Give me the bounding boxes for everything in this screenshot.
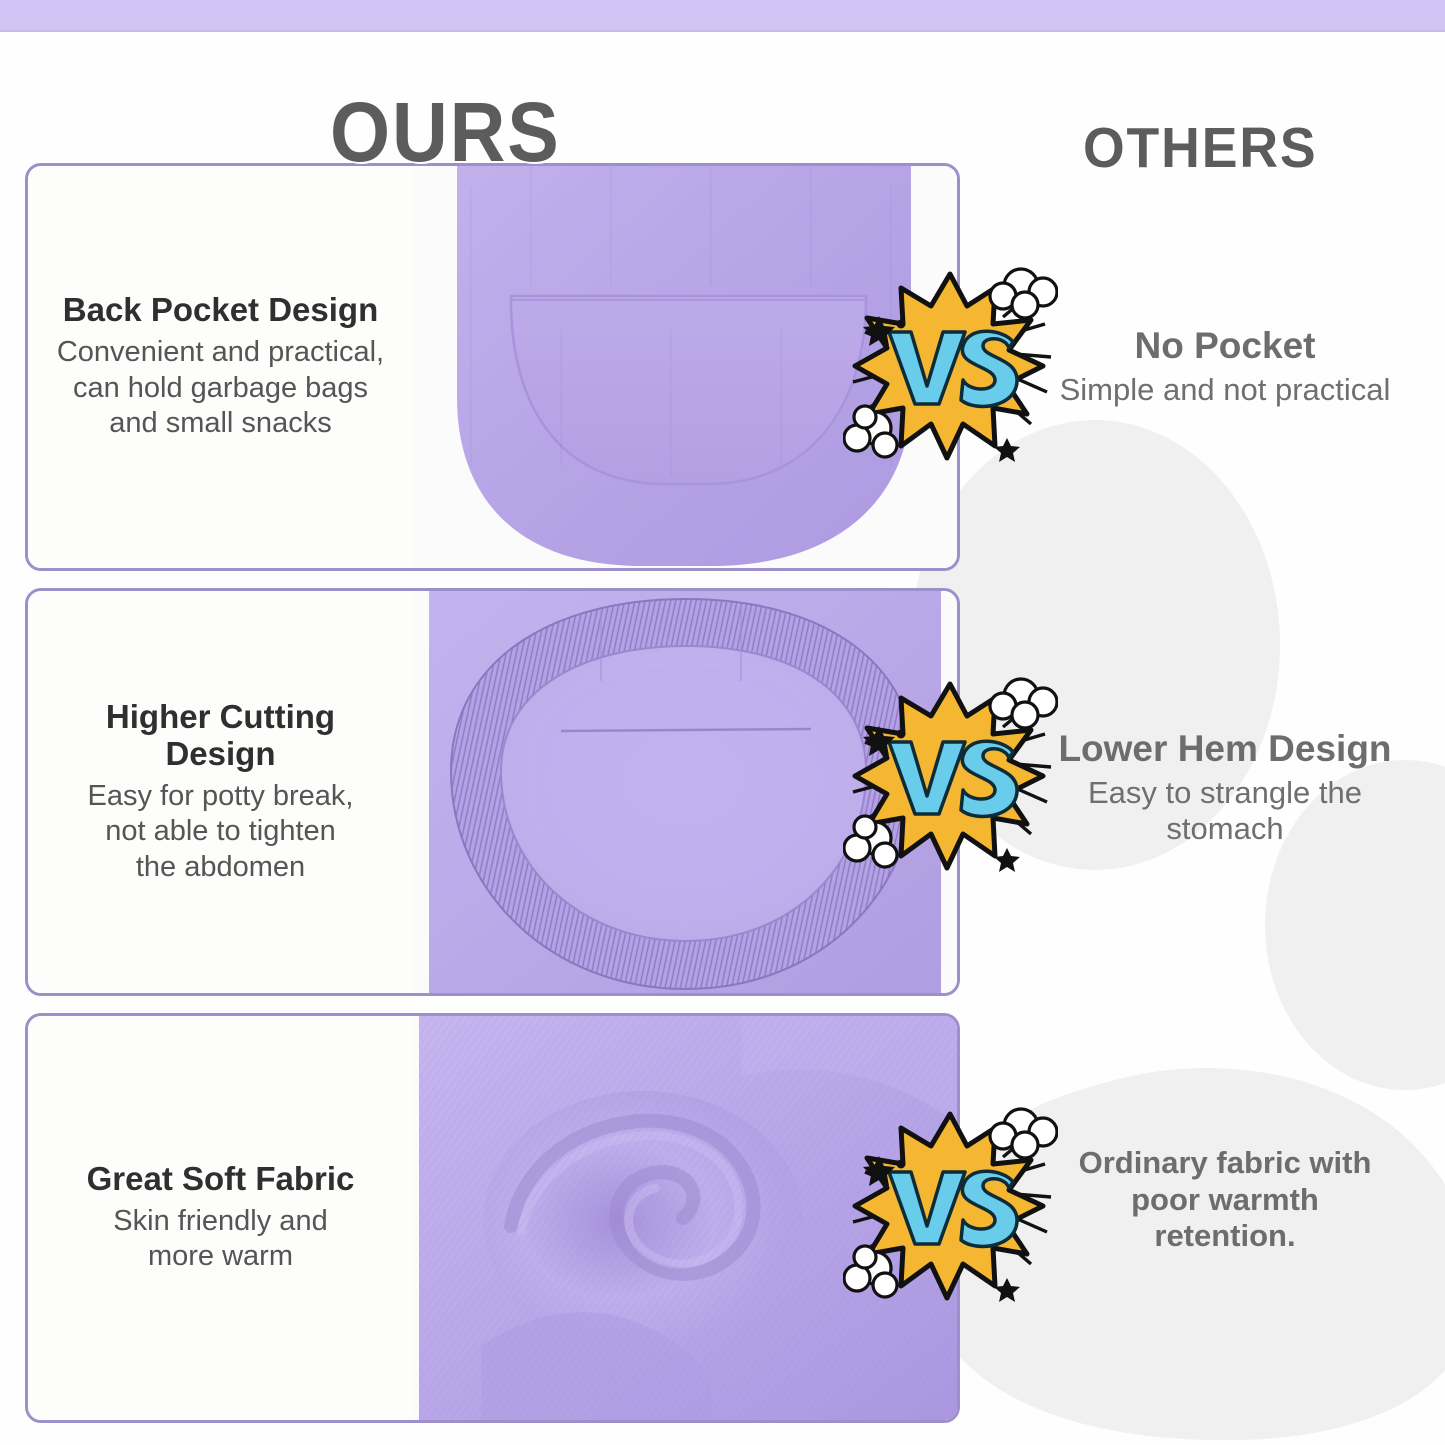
feature-title: Great Soft Fabric [87, 1161, 355, 1198]
others-feature-description: Easy to strangle thestomach [1020, 775, 1430, 848]
comparison-headings: OURS OTHERS [0, 40, 1445, 150]
others-feature-block: Lower Hem Design Easy to strangle thesto… [1020, 728, 1430, 848]
ours-feature-card: Higher CuttingDesign Easy for potty brea… [25, 588, 960, 996]
ours-feature-text: Higher CuttingDesign Easy for potty brea… [28, 591, 413, 993]
others-feature-description: Simple and not practical [1020, 372, 1430, 409]
feature-description: Easy for potty break,not able to tighten… [88, 779, 354, 885]
feature-title: Higher CuttingDesign [106, 699, 335, 773]
product-photo-hem-opening [413, 591, 957, 993]
product-photo-soft-fabric [413, 1016, 957, 1420]
product-photo-back-pocket [413, 166, 957, 568]
ours-feature-text: Great Soft Fabric Skin friendly andmore … [28, 1016, 413, 1420]
others-feature-title: Lower Hem Design [1020, 728, 1430, 771]
top-accent-bar [0, 0, 1445, 32]
comparison-row: Great Soft Fabric Skin friendly andmore … [25, 1013, 960, 1423]
ours-feature-text: Back Pocket Design Convenient and practi… [28, 166, 413, 568]
others-heading: OTHERS [1083, 120, 1318, 177]
others-feature-title: No Pocket [1020, 325, 1430, 368]
others-feature-block: No Pocket Simple and not practical [1020, 325, 1430, 408]
ours-heading: OURS [330, 90, 561, 174]
feature-description: Convenient and practical,can hold garbag… [57, 335, 384, 441]
feature-description: Skin friendly andmore warm [113, 1204, 327, 1275]
others-feature-block: Ordinary fabric withpoor warmthretention… [1020, 1145, 1430, 1255]
ours-feature-card: Great Soft Fabric Skin friendly andmore … [25, 1013, 960, 1423]
comparison-row: Back Pocket Design Convenient and practi… [25, 163, 960, 571]
ours-feature-card: Back Pocket Design Convenient and practi… [25, 163, 960, 571]
feature-title: Back Pocket Design [63, 292, 378, 329]
others-feature-title: Ordinary fabric withpoor warmthretention… [1020, 1145, 1430, 1255]
comparison-row: Higher CuttingDesign Easy for potty brea… [25, 588, 960, 996]
